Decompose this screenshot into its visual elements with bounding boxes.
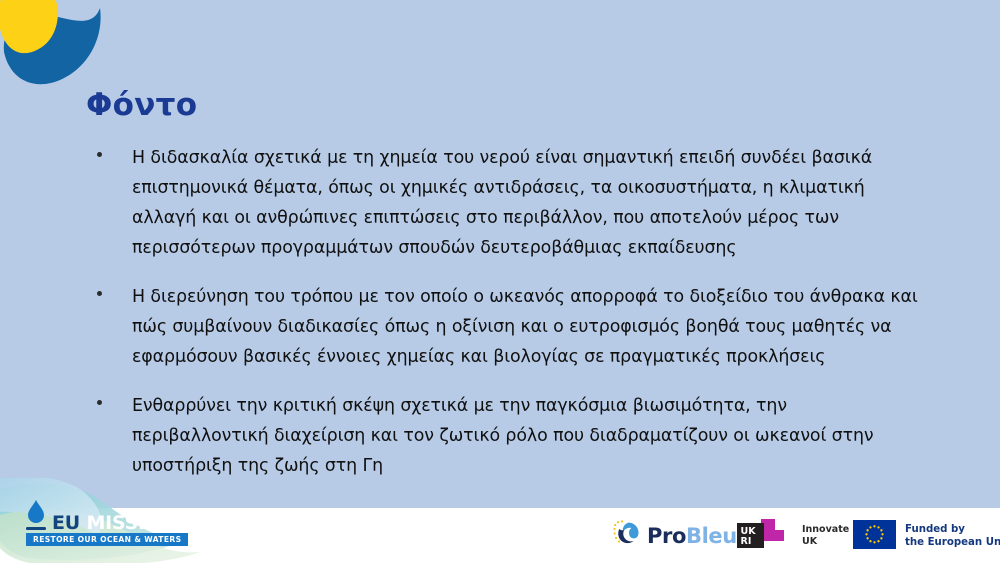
list-item-text: Η διδασκαλία σχετικά με τη χημεία του νε… [132,143,922,263]
ukri-logo-icon: UK RI [737,519,793,554]
list-item-text: Η διερεύνηση του τρόπου με τον οποίο ο ω… [132,282,922,372]
eu-missions-name-primary: EU [52,512,80,534]
page-title: Φόντο [86,88,197,122]
bullet-dot-icon [97,152,102,157]
eu-missions-tagline: RESTORE OUR OCEAN & WATERS [26,533,188,546]
eu-missions-name-secondary: MISSIONS [86,512,190,534]
innovate-uk-line1: Innovate [802,524,849,535]
list-item: Η διδασκαλία σχετικά με τη χημεία του νε… [92,143,922,263]
bullet-dot-icon [97,400,102,405]
probleu-swirl-icon [612,520,642,552]
innovate-uk-line2: UK [802,536,817,547]
probleu-name-secondary: Bleu [686,524,737,548]
eu-funded-logo: Funded by the European Union [853,521,1000,551]
innovate-uk-wordmark: Innovate UK [802,524,849,548]
probleu-name-primary: Pro [647,524,686,548]
bullet-dot-icon [97,291,102,296]
probleu-wordmark: ProBleu [647,524,737,548]
svg-text:RI: RI [741,536,752,547]
bullet-list: Η διδασκαλία σχετικά με τη χημεία του νε… [92,143,922,500]
probleu-logo: ProBleu [612,521,737,551]
eu-missions-wordmark: EU MISSIONS [52,512,190,534]
eu-funded-line1: Funded by [905,524,965,535]
presentation-slide: Φόντο Η διδασκαλία σχετικά με τη χημεία … [0,0,1000,563]
list-item: Ενθαρρύνει την κριτική σκέψη σχετικά με … [92,391,922,481]
list-item: Η διερεύνηση του τρόπου με τον οποίο ο ω… [92,282,922,372]
eu-flag-icon [853,520,896,553]
ukri-innovate-uk-logo: UK RI Innovate UK [737,520,849,552]
eu-funded-line2: the European Union [905,537,1000,548]
list-item-text: Ενθαρρύνει την κριτική σκέψη σχετικά με … [132,391,922,481]
eu-funded-wordmark: Funded by the European Union [905,523,1000,549]
